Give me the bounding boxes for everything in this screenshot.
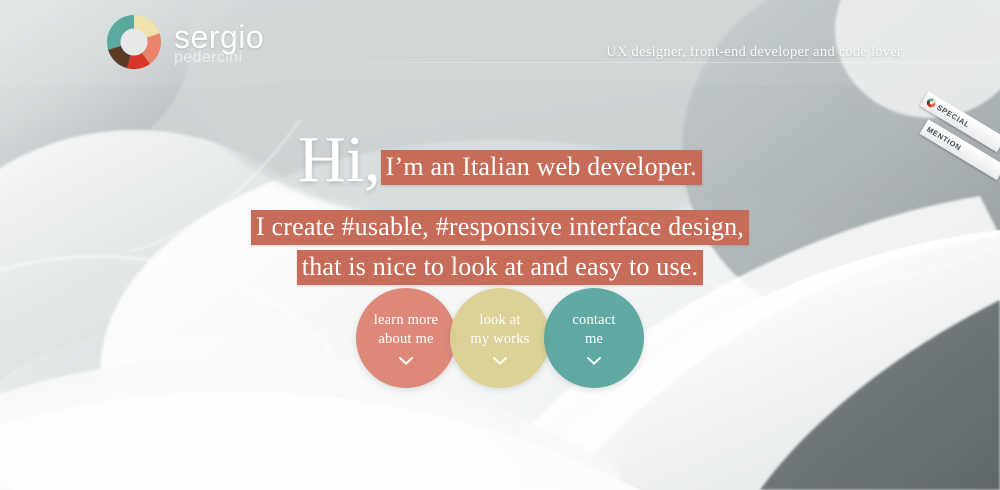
headline-line-1: Hi,I’m an Italian web developer. [0, 128, 1000, 209]
cta-contact-line1: contact [572, 311, 615, 330]
award-dot-icon [925, 97, 937, 109]
cta-learn-more-line1: learn more [374, 311, 438, 330]
special-mention-badge[interactable]: SPECIAL MENTION [916, 52, 1000, 148]
cta-learn-more-line2: about me [378, 330, 433, 349]
cta-my-works-line2: my works [470, 330, 529, 349]
brand-name: sergio [174, 22, 264, 52]
brand-wordmark: sergio pedercini [174, 18, 264, 67]
brand-surname: pedercini [174, 49, 264, 67]
hero-headline: Hi,I’m an Italian web developer. I creat… [0, 128, 1000, 289]
chevron-down-icon [493, 357, 507, 365]
cta-my-works[interactable]: look at my works [450, 288, 550, 388]
cta-learn-more[interactable]: learn more about me [356, 288, 456, 388]
headline-greeting: Hi, [298, 123, 381, 196]
header-divider [290, 62, 1000, 63]
site-header: sergio pedercini UX designer, front-end … [0, 0, 1000, 82]
cta-my-works-line1: look at [479, 311, 520, 330]
chevron-down-icon [587, 357, 601, 365]
cta-circle-group: learn more about me look at my works con… [0, 288, 1000, 388]
color-ring-logo-icon [106, 14, 162, 70]
brand-logo[interactable]: sergio pedercini [106, 14, 264, 70]
headline-highlight-2: I create #usable, #responsive interface … [251, 210, 749, 245]
header-tagline: UX designer, front-end developer and cod… [606, 44, 902, 61]
cta-contact-line2: me [585, 330, 603, 349]
headline-highlight-1: I’m an Italian web developer. [381, 150, 702, 185]
headline-line-2: I create #usable, #responsive interface … [0, 210, 1000, 249]
headline-line-3: that is nice to look at and easy to use. [0, 250, 1000, 289]
chevron-down-icon [399, 357, 413, 365]
cta-contact[interactable]: contact me [544, 288, 644, 388]
badge-label-special: SPECIAL [935, 103, 971, 130]
headline-highlight-3: that is nice to look at and easy to use. [297, 250, 703, 285]
